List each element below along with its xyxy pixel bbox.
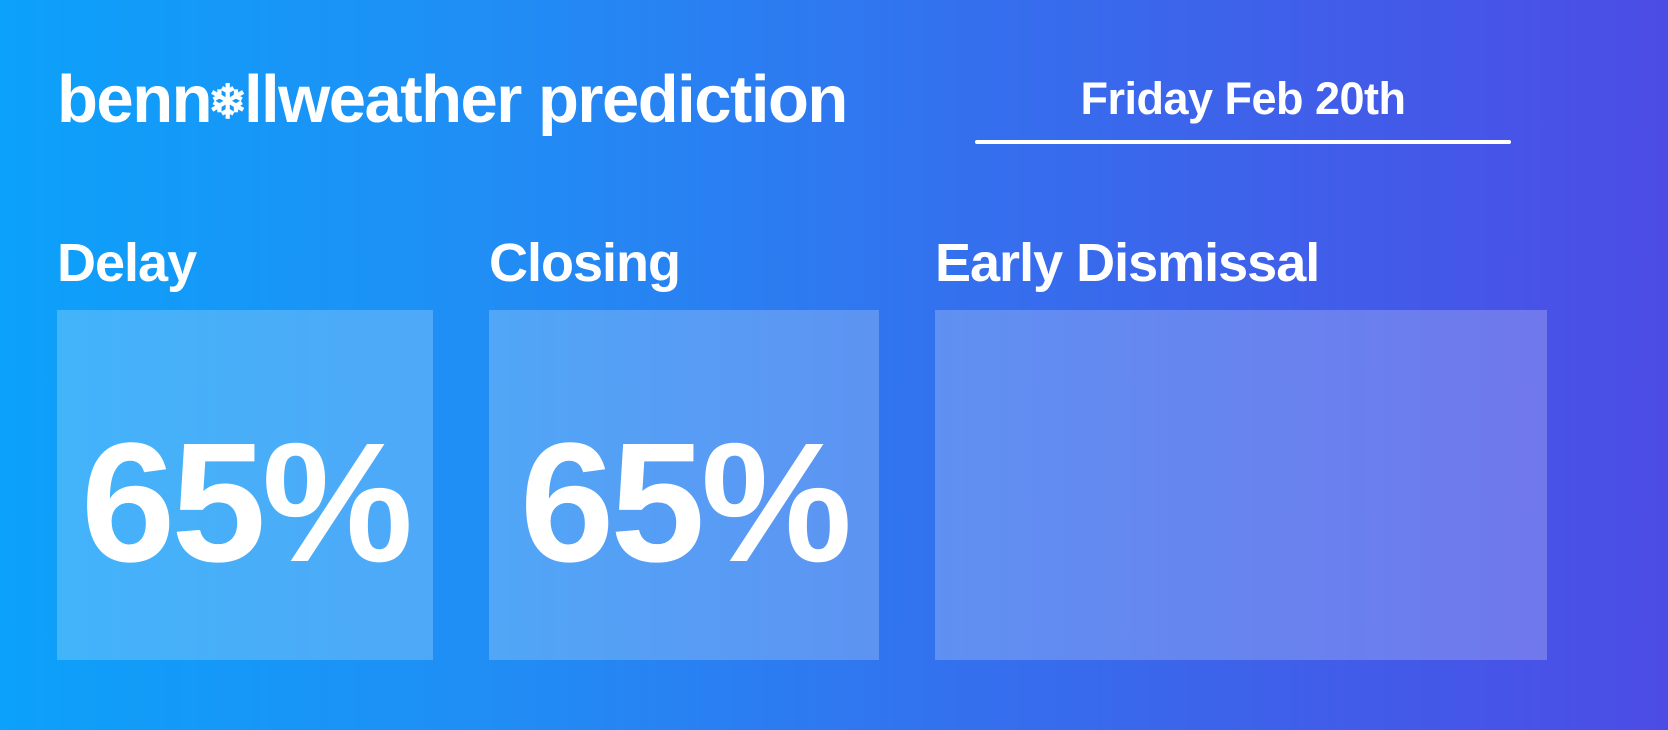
title-suffix: llweather prediction: [244, 66, 847, 133]
value-box-delay[interactable]: 65%: [57, 310, 433, 660]
title-prefix: benn: [57, 66, 211, 133]
column-closing: Closing 65%: [489, 215, 879, 660]
value-closing: 65%: [520, 418, 848, 588]
value-delay: 65%: [81, 418, 409, 588]
weather-prediction-banner: benn❄llweather prediction Friday Feb 20t…: [0, 0, 1668, 730]
column-early-dismissal: Early Dismissal: [935, 215, 1547, 660]
value-box-early-dismissal[interactable]: [935, 310, 1547, 660]
column-heading-delay: Delay: [57, 215, 433, 310]
column-delay: Delay 65%: [57, 215, 433, 660]
column-heading-closing: Closing: [489, 215, 879, 310]
value-box-closing[interactable]: 65%: [489, 310, 879, 660]
snowflake-icon: ❄: [208, 78, 246, 125]
prediction-columns: Delay 65% Closing 65% Early Dismissal: [57, 215, 1605, 660]
date-underline: [975, 140, 1511, 144]
header: benn❄llweather prediction Friday Feb 20t…: [57, 66, 1611, 156]
date-value: Friday Feb 20th: [1080, 76, 1405, 140]
column-heading-early-dismissal: Early Dismissal: [935, 215, 1547, 310]
page-title: benn❄llweather prediction: [57, 66, 847, 133]
date-field[interactable]: Friday Feb 20th: [975, 76, 1511, 144]
